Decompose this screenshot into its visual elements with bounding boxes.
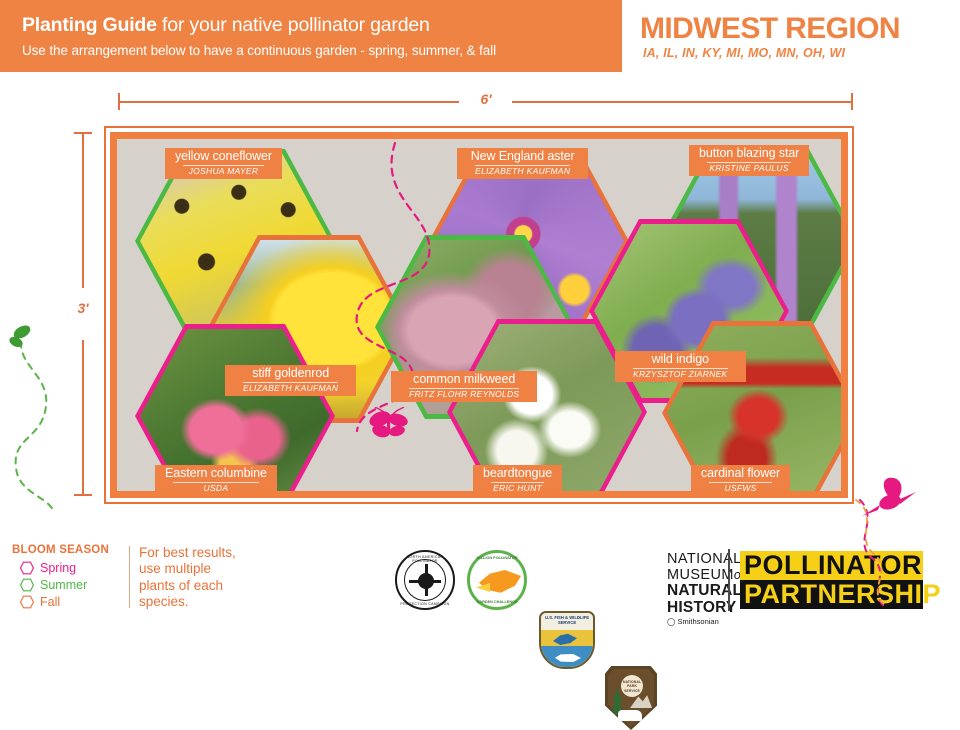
- hexagon-icon-fall: [20, 595, 34, 609]
- hummingbird-decoration: [860, 470, 930, 530]
- plant-credit: FRITZ FLOHR REYNOLDS: [409, 388, 519, 399]
- plant-credit: ERIC HUNT: [491, 482, 544, 493]
- width-dimension-ruler: 6': [118, 93, 853, 113]
- legend-title: BLOOM SEASON: [12, 544, 127, 556]
- legend-divider: [129, 546, 130, 608]
- plant-label-cardinal-flower: cardinal flower USFWS: [691, 465, 790, 496]
- plant-credit: ELIZABETH KAUFMAN: [243, 382, 338, 393]
- logo-nmnh-line2-main: MUSEUM: [667, 567, 734, 583]
- plant-name: Eastern columbine: [165, 467, 267, 481]
- logo-smithsonian-text: ◯ Smithsonian: [667, 617, 813, 626]
- logo-north-american-pollinator-protection-campaign: NORTH AMERICAN POLLINATOR PROTECTION CAM…: [395, 550, 455, 610]
- plant-name: wild indigo: [625, 353, 736, 367]
- height-dimension-ruler: 3': [72, 132, 94, 496]
- legend-label-fall: Fall: [40, 595, 60, 609]
- page-title-bold: Planting Guide: [22, 14, 157, 36]
- page-subtitle: Use the arrangement below to have a cont…: [22, 43, 496, 58]
- butterfly-magenta: [367, 407, 413, 441]
- plant-credit: JOSHUA MAYER: [183, 165, 264, 176]
- plant-credit: USFWS: [709, 482, 772, 493]
- legend-note: For best results, use multiple plants of…: [139, 545, 249, 611]
- logo-us-fish-and-wildlife-service: U.S. FISH & WILDLIFE SERVICE: [539, 611, 595, 669]
- plant-label-wild-indigo: wild indigo KRZYSZTOF ZIARNEK: [615, 351, 746, 382]
- plant-label-beardtongue: beardtongue ERIC HUNT: [473, 465, 562, 496]
- bison-icon: [618, 710, 642, 721]
- partner-logos: NORTH AMERICAN POLLINATOR PROTECTION CAM…: [395, 548, 455, 612]
- ruler-line-left: [119, 101, 459, 103]
- plant-name: beardtongue: [483, 467, 552, 481]
- legend-label-summer: Summer: [40, 578, 87, 592]
- hexagon-icon-summer: [20, 578, 34, 592]
- plant-name: New England aster: [467, 150, 578, 164]
- ruler-cap-bottom: [74, 494, 92, 496]
- logo-mpgc-top-text: MILLION POLLINATOR: [470, 556, 524, 560]
- ruler-line-bottom: [82, 340, 84, 495]
- seal-hub: [418, 573, 434, 589]
- plant-label-eastern-columbine: Eastern columbine USDA: [155, 465, 277, 496]
- garden-bed: yellow coneflower JOSHUA MAYER stiff gol…: [110, 132, 848, 498]
- plant-label-stiff-goldenrod: stiff goldenrod ELIZABETH KAUFMAN: [225, 365, 356, 396]
- page-title: Planting Guide for your native pollinato…: [22, 14, 430, 37]
- legend-item-fall: Fall: [20, 593, 127, 610]
- logo-fws-text: U.S. FISH & WILDLIFE SERVICE: [541, 613, 593, 630]
- logo-million-pollinator-garden-challenge: MILLION POLLINATOR GARDEN CHALLENGE: [467, 550, 527, 610]
- logo-nmnh-line4-text: HISTORY: [667, 599, 736, 616]
- region-title: MIDWEST REGION: [640, 12, 900, 46]
- ruler-cap-right: [851, 93, 853, 110]
- logo-pp-line2: PARTNERSHIP: [740, 580, 923, 609]
- plant-label-yellow-coneflower: yellow coneflower JOSHUA MAYER: [165, 148, 282, 179]
- plant-name: common milkweed: [401, 373, 527, 387]
- page-title-rest: for your native pollinator garden: [157, 14, 430, 36]
- plant-name: stiff goldenrod: [235, 367, 346, 381]
- logo-mpgc-bottom-text: GARDEN CHALLENGE: [470, 600, 524, 604]
- plant-label-common-milkweed: common milkweed FRITZ FLOHR REYNOLDS: [391, 371, 537, 402]
- ruler-line-top: [82, 133, 84, 288]
- logo-napp-bottom-text: PROTECTION CAMPAIGN: [397, 602, 453, 606]
- logo-pp-line1: POLLINATOR: [740, 551, 923, 580]
- region-states: IA, IL, IN, KY, MI, MO, MN, OH, WI: [643, 46, 845, 60]
- hexagon-icon-spring: [20, 561, 34, 575]
- logo-pollinator-partnership: POLLINATOR PARTNERSHIP: [740, 551, 923, 609]
- plant-label-new-england-aster: New England aster ELIZABETH KAUFMAN: [457, 148, 588, 179]
- ruler-line-right: [512, 101, 852, 103]
- logo-nps-text: NATIONAL PARK SERVICE: [621, 675, 643, 697]
- bird-icon: [479, 567, 521, 597]
- logo-napp-top-text: NORTH AMERICAN POLLINATOR: [397, 555, 453, 563]
- plant-credit: ELIZABETH KAUFMAN: [475, 165, 570, 176]
- legend-item-spring: Spring: [20, 559, 127, 576]
- legend-item-summer: Summer: [20, 576, 127, 593]
- plant-label-button-blazing-star: button blazing star KRISTINE PAULUS: [689, 145, 809, 176]
- logo-national-park-service: NATIONAL PARK SERVICE: [605, 666, 657, 730]
- height-dimension-label: 3': [68, 300, 98, 316]
- legend-label-spring: Spring: [40, 561, 76, 575]
- width-dimension-label: 6': [464, 91, 508, 107]
- bloom-season-legend: BLOOM SEASON Spring Summer Fall: [12, 544, 127, 610]
- plant-credit: KRISTINE PAULUS: [707, 162, 791, 173]
- logo-divider: [728, 549, 730, 611]
- plant-credit: KRZYSZTOF ZIARNEK: [633, 368, 728, 379]
- plant-name: cardinal flower: [701, 467, 780, 481]
- plant-name: yellow coneflower: [175, 150, 272, 164]
- plant-name: button blazing star: [699, 147, 799, 161]
- page-header: Planting Guide for your native pollinato…: [0, 0, 960, 72]
- smithsonian-label: Smithsonian: [677, 617, 718, 626]
- plant-credit: USDA: [173, 482, 259, 493]
